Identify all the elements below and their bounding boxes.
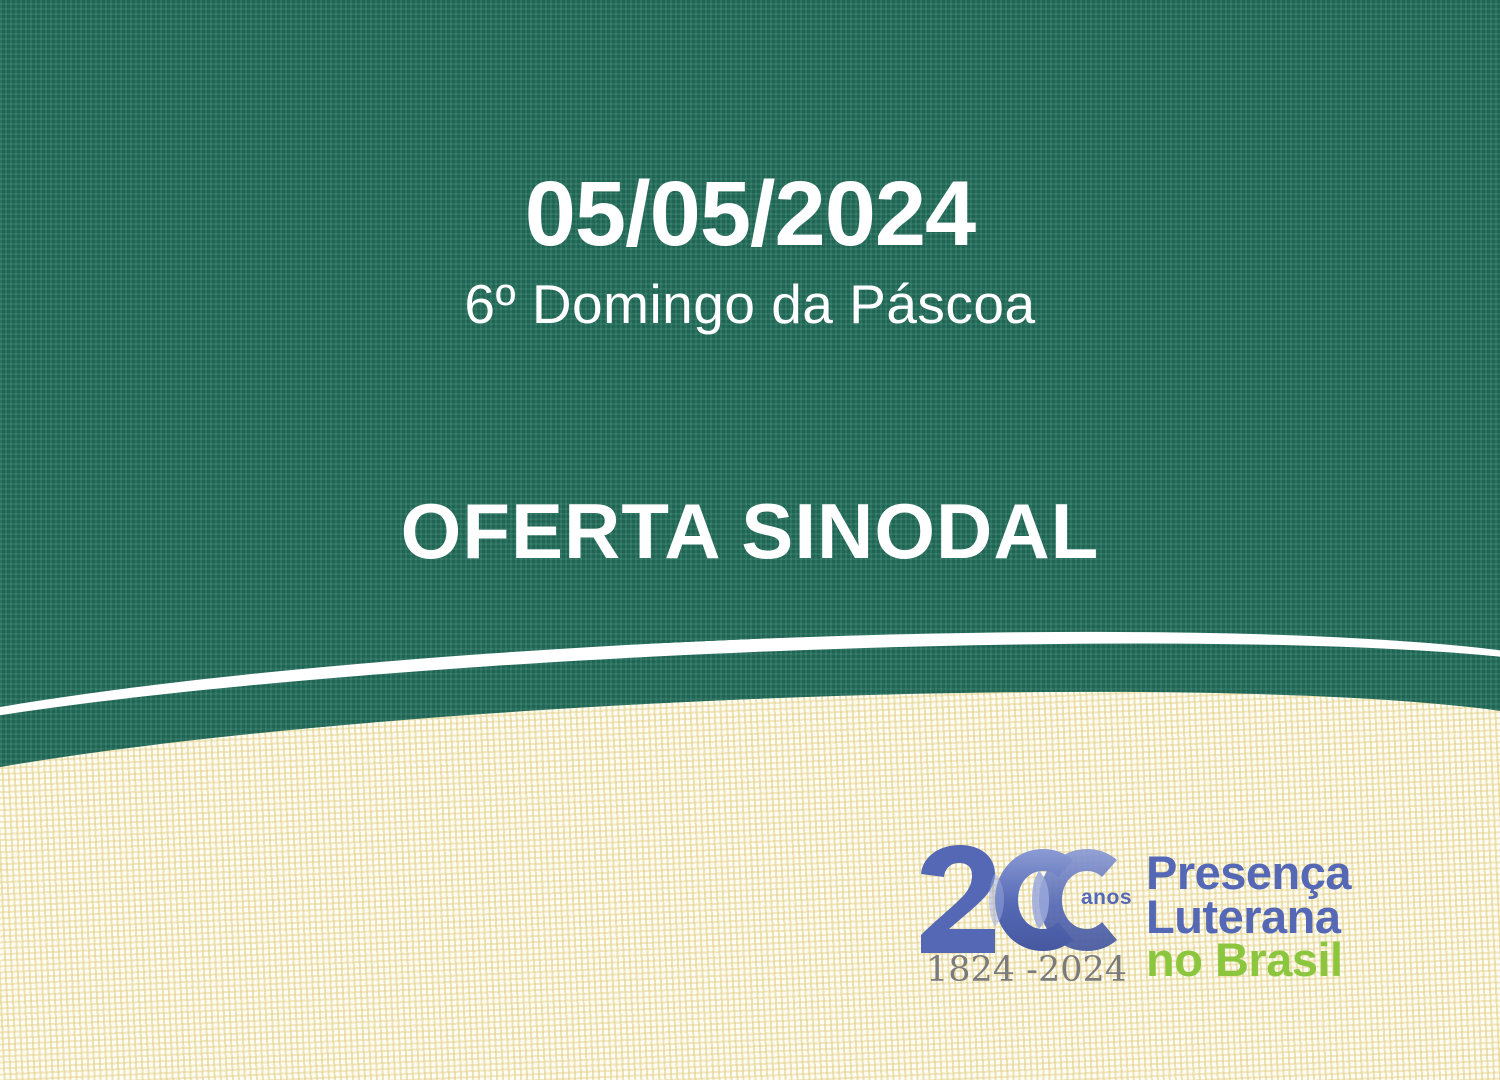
logo-mark-column: anos 1824 -2024 bbox=[915, 843, 1140, 1003]
event-subtitle: 6º Domingo da Páscoa bbox=[0, 270, 1500, 339]
headline-block: 05/05/2024 6º Domingo da Páscoa bbox=[0, 168, 1500, 339]
years-range-label: 1824 -2024 bbox=[919, 953, 1134, 988]
page-title: OFERTA SINODAL bbox=[0, 492, 1500, 570]
anos-label: anos bbox=[1081, 887, 1132, 908]
logo-lockup: anos 1824 -2024 Presença Luterana no Bra… bbox=[915, 843, 1435, 1008]
wordmark-line-presenca: Presença bbox=[1146, 851, 1351, 895]
wordmark-line-no-brasil: no Brasil bbox=[1146, 938, 1351, 982]
poster-canvas: 05/05/2024 6º Domingo da Páscoa OFERTA S… bbox=[0, 0, 1500, 1080]
event-date: 05/05/2024 bbox=[0, 168, 1500, 260]
wordmark: Presença Luterana no Brasil bbox=[1146, 843, 1351, 982]
wordmark-line-luterana: Luterana bbox=[1146, 895, 1351, 939]
